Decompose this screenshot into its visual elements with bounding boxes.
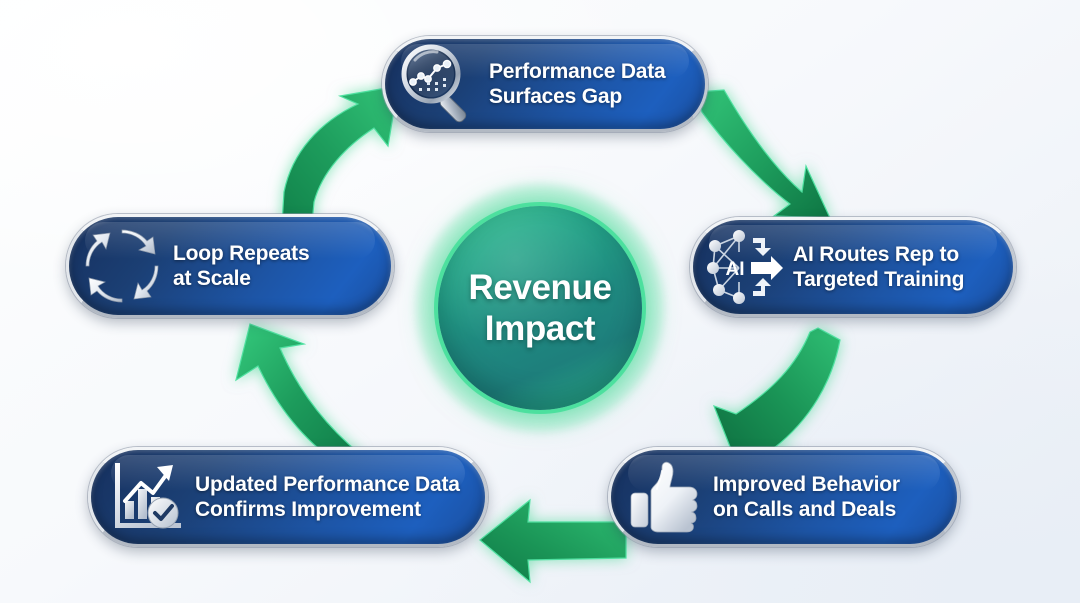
node-label-loop-repeats: Loop Repeats at Scale [173, 241, 309, 291]
node-performance-data[interactable]: Performance Data Surfaces Gap [382, 36, 708, 132]
neural-network-ai-icon: AI [705, 228, 787, 306]
hub-label: Revenue Impact [468, 267, 611, 350]
node-updated-performance[interactable]: Updated Performance Data Confirms Improv… [88, 447, 488, 547]
arrow-behavior-to-updated [476, 498, 628, 584]
arrow-ai-to-behavior [700, 326, 842, 466]
node-ai-routing[interactable]: AI AI Routes Rep to Targeted Training [690, 217, 1016, 317]
node-label-updated-performance: Updated Performance Data Confirms Improv… [195, 472, 460, 522]
svg-text:AI: AI [726, 259, 745, 280]
node-improved-behavior[interactable]: Improved Behavior on Calls and Deals [608, 447, 960, 547]
diagram-canvas: Revenue Impact [0, 0, 1080, 603]
circular-arrows-icon [83, 227, 161, 305]
node-label-ai-routing: AI Routes Rep to Targeted Training [793, 242, 964, 292]
node-label-performance-data: Performance Data Surfaces Gap [489, 59, 666, 109]
thumbs-up-icon [627, 459, 703, 535]
node-label-improved-behavior: Improved Behavior on Calls and Deals [713, 472, 900, 522]
arrow-performance-to-ai [694, 88, 838, 230]
chart-growth-check-icon [107, 457, 187, 537]
center-hub: Revenue Impact [438, 206, 642, 410]
magnifying-glass-chart-icon [397, 42, 481, 126]
node-loop-repeats[interactable]: Loop Repeats at Scale [66, 214, 394, 318]
